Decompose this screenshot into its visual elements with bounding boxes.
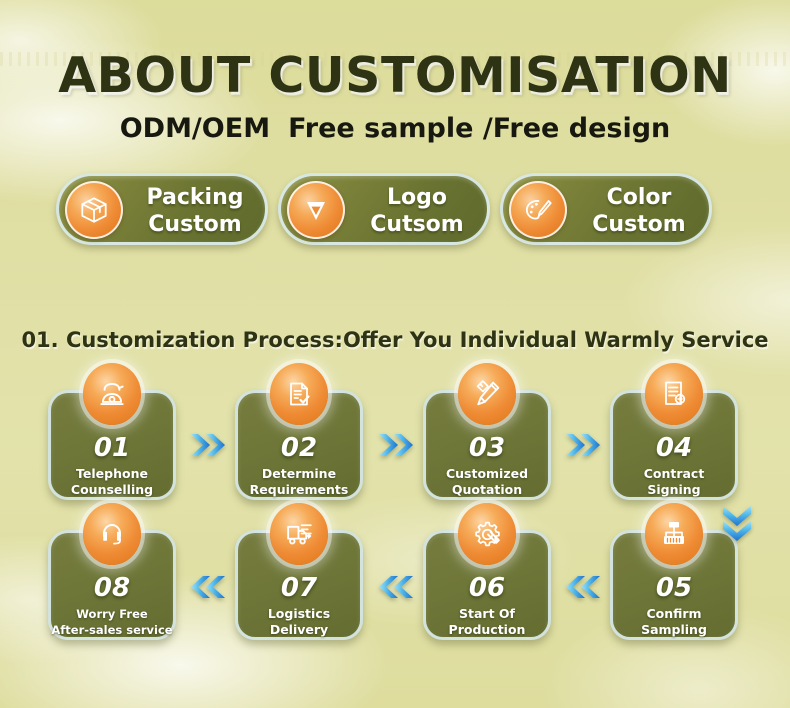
step-card-01[interactable]: 01 Telephone Counselling bbox=[48, 390, 176, 500]
telephone-icon bbox=[83, 363, 141, 425]
contract-stamp-icon bbox=[645, 363, 703, 425]
step-card-07[interactable]: 07 Logistics Delivery bbox=[235, 530, 363, 640]
step-card-02[interactable]: 02 Determine Requirements bbox=[235, 390, 363, 500]
step-number-03: 03 bbox=[426, 433, 548, 463]
delivery-truck-icon bbox=[270, 503, 328, 565]
arrow-01-to-02 bbox=[188, 430, 228, 460]
step-label-08-line2: After-sales service bbox=[37, 622, 187, 638]
step-label-01-line1: Telephone bbox=[37, 466, 187, 482]
pencil-ruler-icon bbox=[458, 363, 516, 425]
arrow-03-to-04 bbox=[563, 430, 603, 460]
step-label-06-line2: Production bbox=[412, 622, 562, 638]
process-flow: 01 Telephone Counselling 02 Determi bbox=[0, 0, 790, 708]
step-label-07: Logistics Delivery bbox=[224, 606, 374, 638]
step-label-03: Customized Quotation bbox=[412, 466, 562, 498]
step-label-02-line2: Requirements bbox=[224, 482, 374, 498]
step-label-07-line1: Logistics bbox=[224, 606, 374, 622]
arrow-06-to-07 bbox=[376, 572, 416, 602]
step-card-05[interactable]: 05 Confirm Sampling bbox=[610, 530, 738, 640]
step-label-05: Confirm Sampling bbox=[599, 606, 749, 638]
step-label-03-line2: Quotation bbox=[412, 482, 562, 498]
step-card-08[interactable]: 08 Worry Free After-sales service bbox=[48, 530, 176, 640]
step-number-04: 04 bbox=[613, 433, 735, 463]
step-label-02-line1: Determine bbox=[224, 466, 374, 482]
step-card-06[interactable]: 06 Start Of Production bbox=[423, 530, 551, 640]
step-number-08: 08 bbox=[51, 573, 173, 603]
step-label-01-line2: Counselling bbox=[37, 482, 187, 498]
step-number-01: 01 bbox=[51, 433, 173, 463]
step-label-01: Telephone Counselling bbox=[37, 466, 187, 498]
arrow-02-to-03 bbox=[376, 430, 416, 460]
step-label-04-line2: Signing bbox=[599, 482, 749, 498]
step-label-07-line2: Delivery bbox=[224, 622, 374, 638]
arrow-07-to-08 bbox=[188, 572, 228, 602]
step-number-06: 06 bbox=[426, 573, 548, 603]
step-card-03[interactable]: 03 Customized Quotation bbox=[423, 390, 551, 500]
arrow-04-to-05 bbox=[720, 503, 754, 545]
step-label-04-line1: Contract bbox=[599, 466, 749, 482]
document-check-icon bbox=[270, 363, 328, 425]
arrow-05-to-06 bbox=[563, 572, 603, 602]
step-label-04: Contract Signing bbox=[599, 466, 749, 498]
step-label-06: Start Of Production bbox=[412, 606, 562, 638]
step-label-08-line1: Worry Free bbox=[37, 606, 187, 622]
step-label-06-line1: Start Of bbox=[412, 606, 562, 622]
poster-root: ABOUT CUSTOMISATION ODM/OEMFree sample /… bbox=[0, 0, 790, 708]
step-label-05-line1: Confirm bbox=[599, 606, 749, 622]
step-number-05: 05 bbox=[613, 573, 735, 603]
step-label-05-line2: Sampling bbox=[599, 622, 749, 638]
step-label-02: Determine Requirements bbox=[224, 466, 374, 498]
step-card-04[interactable]: 04 Contract Signing bbox=[610, 390, 738, 500]
step-label-08: Worry Free After-sales service bbox=[37, 606, 187, 638]
step-number-07: 07 bbox=[238, 573, 360, 603]
step-label-03-line1: Customized bbox=[412, 466, 562, 482]
headset-icon bbox=[83, 503, 141, 565]
gear-wrench-icon bbox=[458, 503, 516, 565]
sample-chart-icon bbox=[645, 503, 703, 565]
step-number-02: 02 bbox=[238, 433, 360, 463]
